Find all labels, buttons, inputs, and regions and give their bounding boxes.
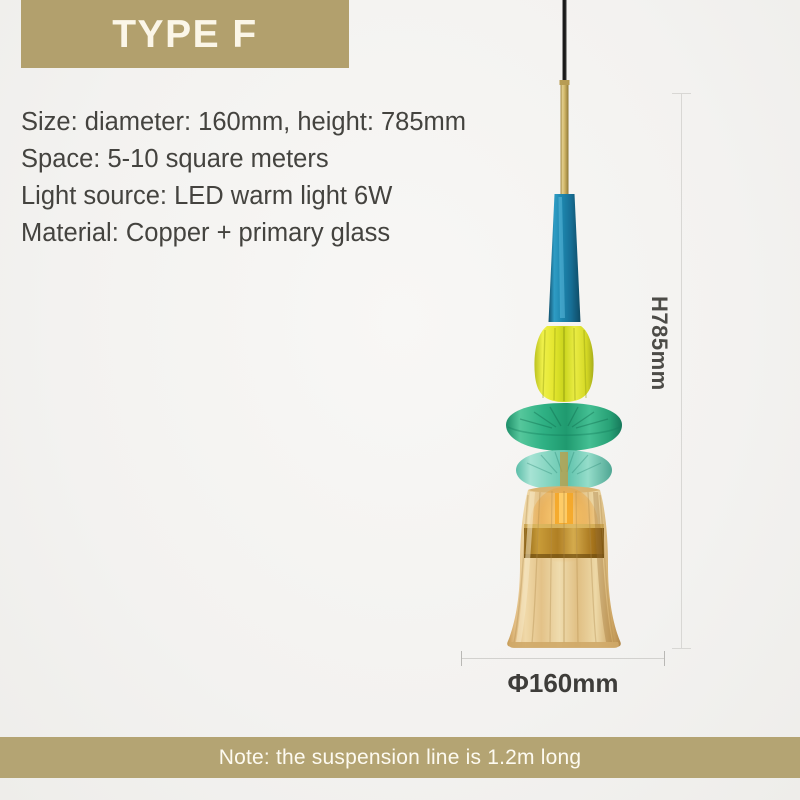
brass-stem	[561, 80, 569, 195]
height-dimension-line	[681, 93, 682, 649]
bell-right-shadow	[593, 492, 612, 642]
spec-line-light-source: Light source: LED warm light 6W	[21, 178, 561, 215]
green-bead-facets	[527, 452, 601, 474]
type-badge: TYPE F	[21, 0, 349, 68]
bell-bottom-rim	[509, 642, 619, 648]
bell-left-highlight	[516, 492, 535, 642]
amber-bell-shade	[507, 490, 621, 647]
bell-top-rim	[528, 486, 600, 493]
yellow-barrel-flutes	[543, 327, 586, 401]
note-bar: Note: the suspension line is 1.2m long	[0, 737, 800, 778]
type-badge-label: TYPE F	[112, 15, 258, 54]
specification-list: Size: diameter: 160mm, height: 785mm Spa…	[21, 104, 561, 252]
brass-led-module-top-edge	[524, 524, 604, 528]
green-disc-facets	[508, 407, 620, 435]
yellow-glass-barrel	[534, 326, 593, 402]
led-slit-core	[559, 493, 567, 523]
brass-led-module-bottom-edge	[524, 554, 604, 558]
warm-glow	[530, 487, 598, 563]
brass-led-module	[524, 524, 604, 558]
height-dimension-label: H785mm	[646, 296, 672, 391]
suspension-cord	[563, 0, 567, 82]
note-bar-label: Note: the suspension line is 1.2m long	[219, 746, 581, 770]
green-glass-bead	[516, 450, 612, 490]
spec-line-material: Material: Copper + primary glass	[21, 215, 561, 252]
diameter-dimension-line	[461, 658, 665, 659]
diameter-dimension-label: Φ160mm	[461, 668, 665, 699]
bell-flutes	[514, 491, 614, 643]
brass-collar	[560, 80, 570, 85]
led-slit	[555, 493, 573, 525]
brass-rod-through-bead	[560, 452, 568, 488]
spec-sheet-page: TYPE F Size: diameter: 160mm, height: 78…	[0, 0, 800, 800]
spec-line-space: Space: 5-10 square meters	[21, 141, 561, 178]
green-glass-disc	[506, 403, 622, 451]
spec-line-size: Size: diameter: 160mm, height: 785mm	[21, 104, 561, 141]
